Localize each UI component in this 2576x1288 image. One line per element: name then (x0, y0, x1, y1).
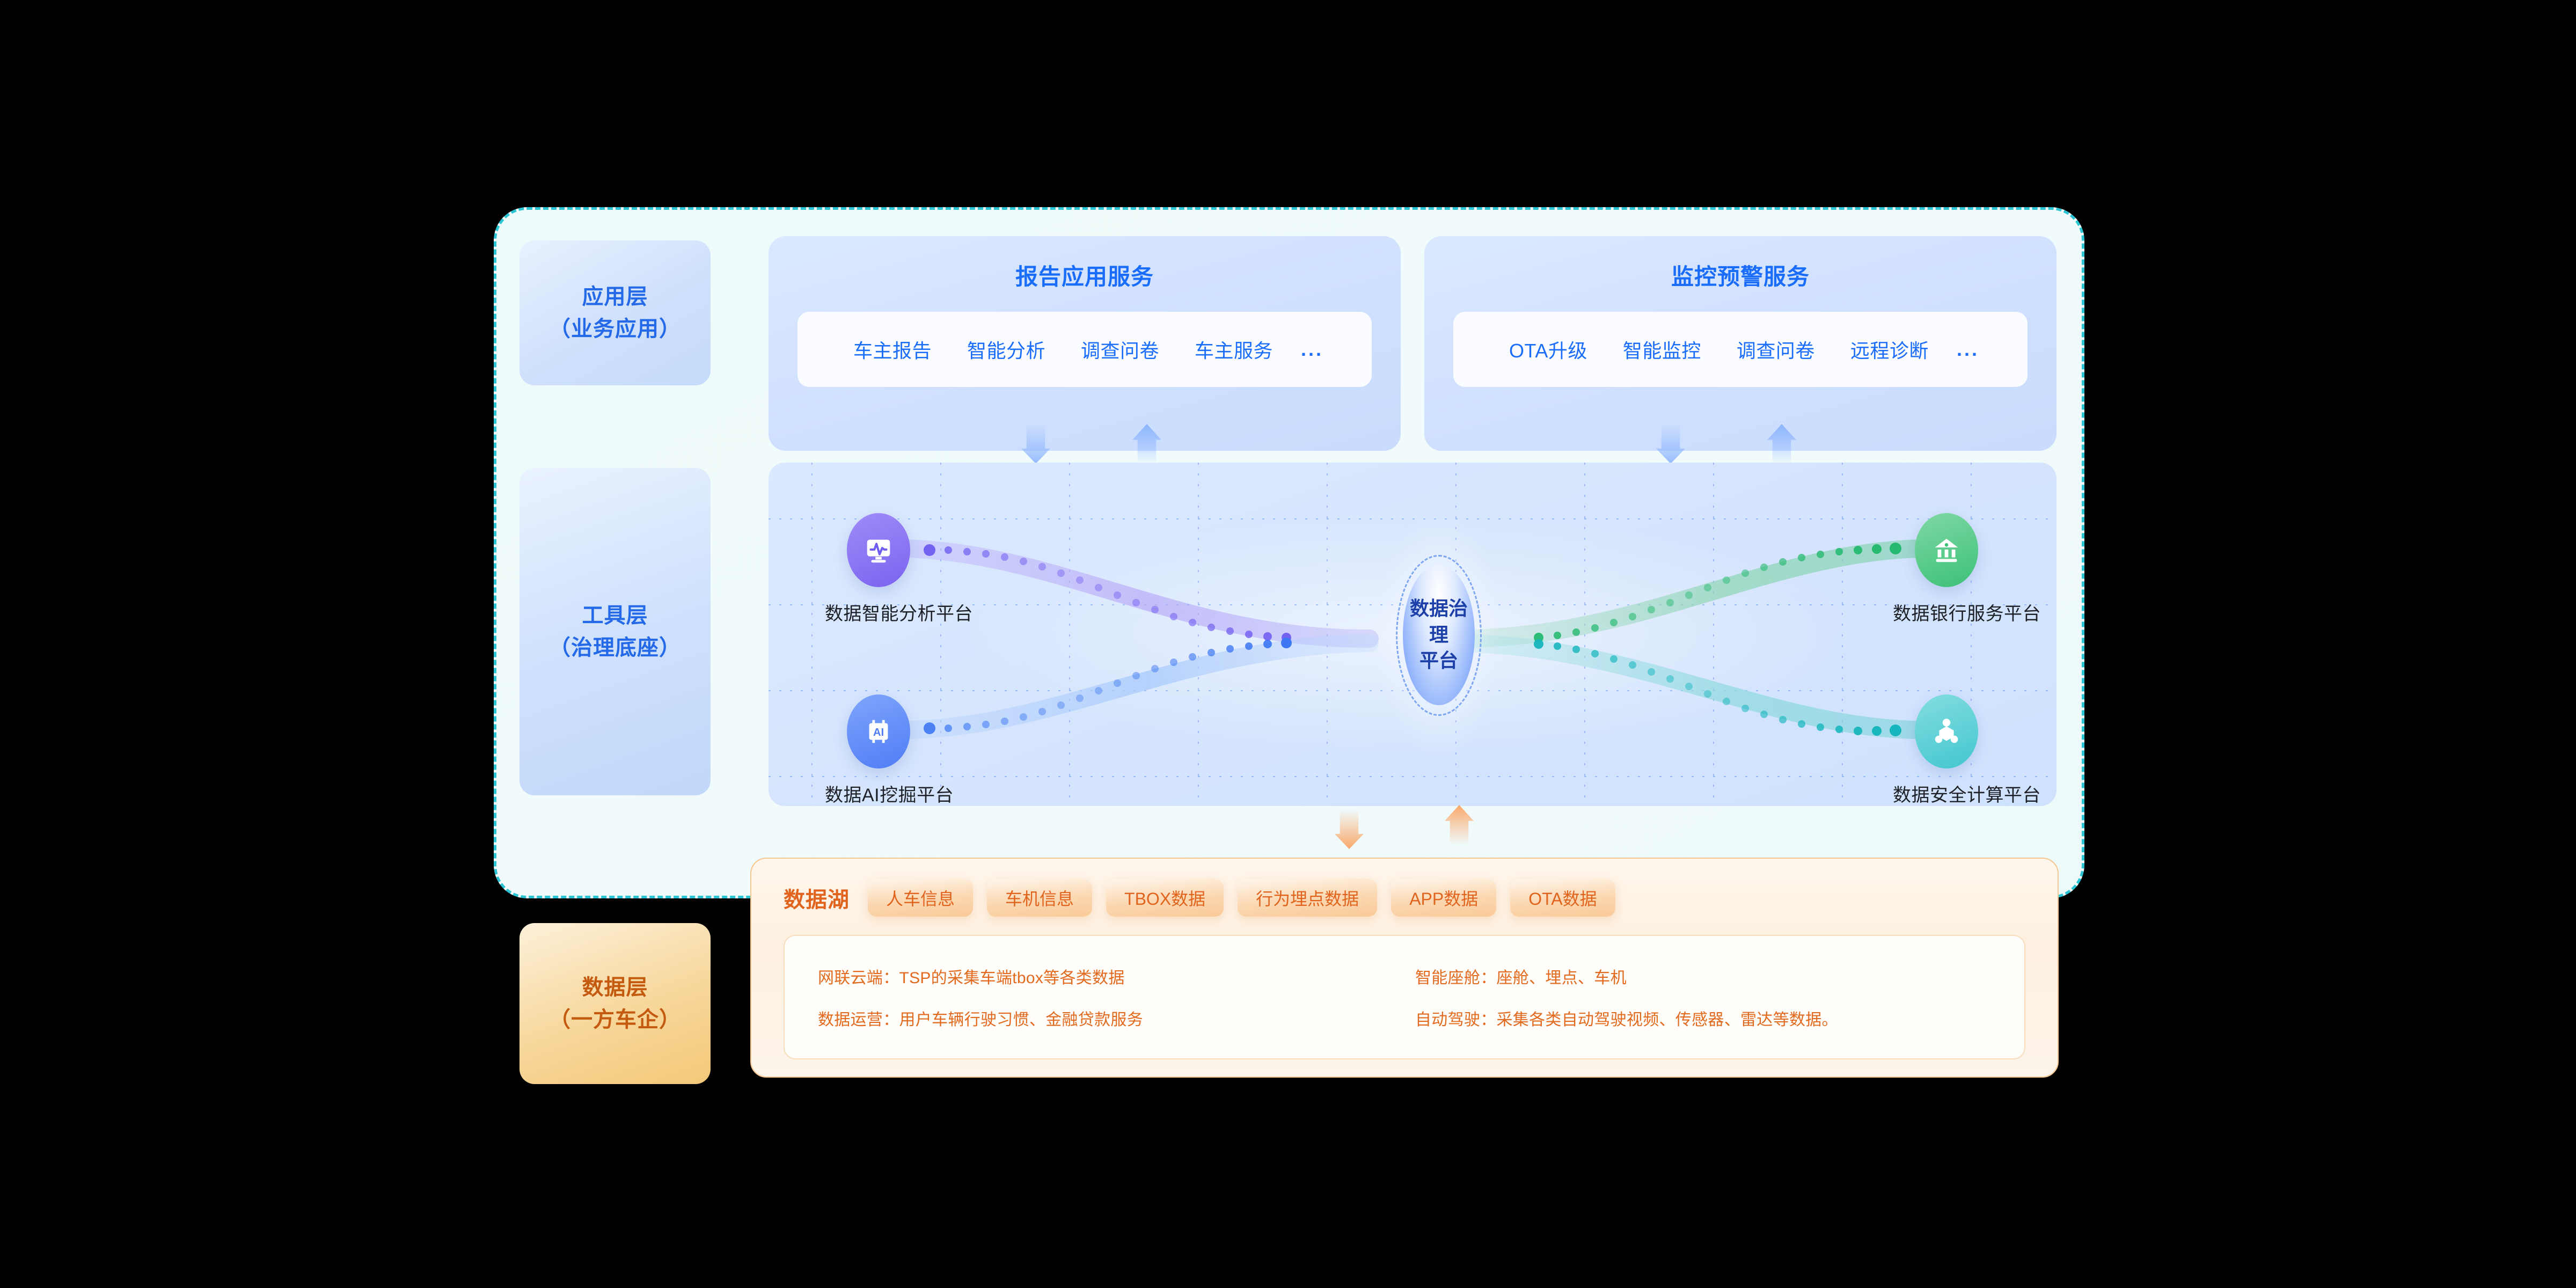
layer-rail-application-label: 应用层 （业务应用） (549, 281, 681, 345)
data-lake-tag[interactable]: APP数据 (1391, 879, 1496, 917)
layer-rail-tool: 工具层 （治理底座） (519, 468, 711, 795)
service-card-monitor-items: OTA升级 智能监控 调查问卷 远程诊断 ... (1453, 312, 2028, 387)
rail-tool-subtitle: （治理底座） (549, 636, 681, 660)
data-lake-tag-row: 数据湖 人车信息 车机信息 TBOX数据 行为埋点数据 APP数据 OTA数据 (784, 877, 2025, 919)
hub-label-line2: 平台 (1419, 649, 1458, 671)
rail-app-subtitle: （业务应用） (549, 317, 681, 341)
platform-node-security[interactable]: 数据安全计算平台 (1893, 694, 2000, 806)
data-lake-tag[interactable]: 人车信息 (868, 879, 973, 917)
platform-node-analysis-label: 数据智能分析平台 (825, 599, 932, 625)
platform-node-bank-label: 数据银行服务平台 (1893, 599, 2000, 625)
layer-rail-application: 应用层 （业务应用） (519, 240, 711, 385)
service-item[interactable]: 车主报告 (838, 335, 947, 363)
service-item[interactable]: 调查问卷 (1066, 335, 1174, 363)
data-lake-tag[interactable]: OTA数据 (1510, 879, 1615, 917)
data-lake-tag[interactable]: 车机信息 (987, 879, 1092, 917)
application-services-row: 报告应用服务 车主报告 智能分析 调查问卷 车主服务 ... 监控预警服务 OT… (769, 236, 2057, 451)
platform-node-ai-label: 数据AI挖掘平台 (825, 780, 932, 806)
rail-data-subtitle: （一方车企） (549, 1008, 681, 1031)
data-source-detail: 网联云端：TSP的采集车端tbox等各类数据 (818, 964, 1394, 988)
service-item[interactable]: OTA升级 (1494, 335, 1602, 363)
layer-rail-data-label: 数据层 （一方车企） (549, 971, 681, 1036)
diagram-root: 应用层 （业务应用） 工具层 （治理底座） 数据层 （一方车企） 报告应用服务 … (0, 0, 2576, 1288)
service-item[interactable]: 调查问卷 (1722, 335, 1830, 363)
data-source-detail: 自动驾驶：采集各类自动驾驶视频、传感器、雷达等数据。 (1415, 1006, 1991, 1030)
service-item[interactable]: 车主服务 (1180, 335, 1288, 363)
data-lake-card: 数据湖 人车信息 车机信息 TBOX数据 行为埋点数据 APP数据 OTA数据 … (750, 858, 2059, 1078)
service-item-more[interactable]: ... (1949, 338, 1987, 361)
tool-layer-panel: 数据治理 平台 数据智能分析平台 (769, 463, 2057, 806)
service-item-more[interactable]: ... (1293, 338, 1331, 361)
hub-label: 数据治理 平台 (1403, 596, 1475, 674)
rail-tool-title: 工具层 (582, 604, 648, 627)
platform-node-security-label: 数据安全计算平台 (1893, 780, 2000, 806)
service-card-monitor-title: 监控预警服务 (1453, 259, 2028, 291)
service-item[interactable]: 智能分析 (952, 335, 1060, 363)
data-lake-tag[interactable]: TBOX数据 (1106, 879, 1224, 917)
ai-chip-icon: AI (847, 694, 910, 769)
data-source-detail-box: 网联云端：TSP的采集车端tbox等各类数据 智能座舱：座舱、埋点、车机 数据运… (784, 935, 2025, 1059)
service-item[interactable]: 远程诊断 (1835, 335, 1944, 363)
shield-network-icon (1915, 694, 1978, 769)
platform-node-ai[interactable]: AI 数据AI挖掘平台 (825, 694, 932, 806)
governance-hub[interactable]: 数据治理 平台 (1377, 509, 1501, 761)
rail-data-title: 数据层 (582, 976, 648, 999)
layer-rail-tool-label: 工具层 （治理底座） (549, 599, 681, 664)
svg-text:AI: AI (873, 727, 884, 738)
service-card-report-items: 车主报告 智能分析 调查问卷 车主服务 ... (797, 312, 1372, 387)
service-card-monitor[interactable]: 监控预警服务 OTA升级 智能监控 调查问卷 远程诊断 ... (1424, 236, 2057, 451)
platform-node-analysis[interactable]: 数据智能分析平台 (825, 513, 932, 625)
data-source-detail: 数据运营：用户车辆行驶习惯、金融贷款服务 (818, 1006, 1394, 1030)
bank-icon (1915, 513, 1978, 587)
platform-node-bank[interactable]: 数据银行服务平台 (1893, 513, 2000, 625)
service-item[interactable]: 智能监控 (1608, 335, 1716, 363)
hub-label-line1: 数据治理 (1410, 597, 1468, 646)
monitor-pulse-icon (847, 513, 910, 587)
data-lake-tag[interactable]: 行为埋点数据 (1238, 879, 1377, 917)
service-card-report[interactable]: 报告应用服务 车主报告 智能分析 调查问卷 车主服务 ... (769, 236, 1401, 451)
service-card-report-title: 报告应用服务 (797, 259, 1372, 291)
data-lake-title: 数据湖 (784, 882, 850, 913)
rail-app-title: 应用层 (582, 285, 648, 309)
data-source-detail: 智能座舱：座舱、埋点、车机 (1415, 964, 1991, 988)
layer-rail-data: 数据层 （一方车企） (519, 923, 711, 1084)
hub-core: 数据治理 平台 (1403, 565, 1475, 705)
